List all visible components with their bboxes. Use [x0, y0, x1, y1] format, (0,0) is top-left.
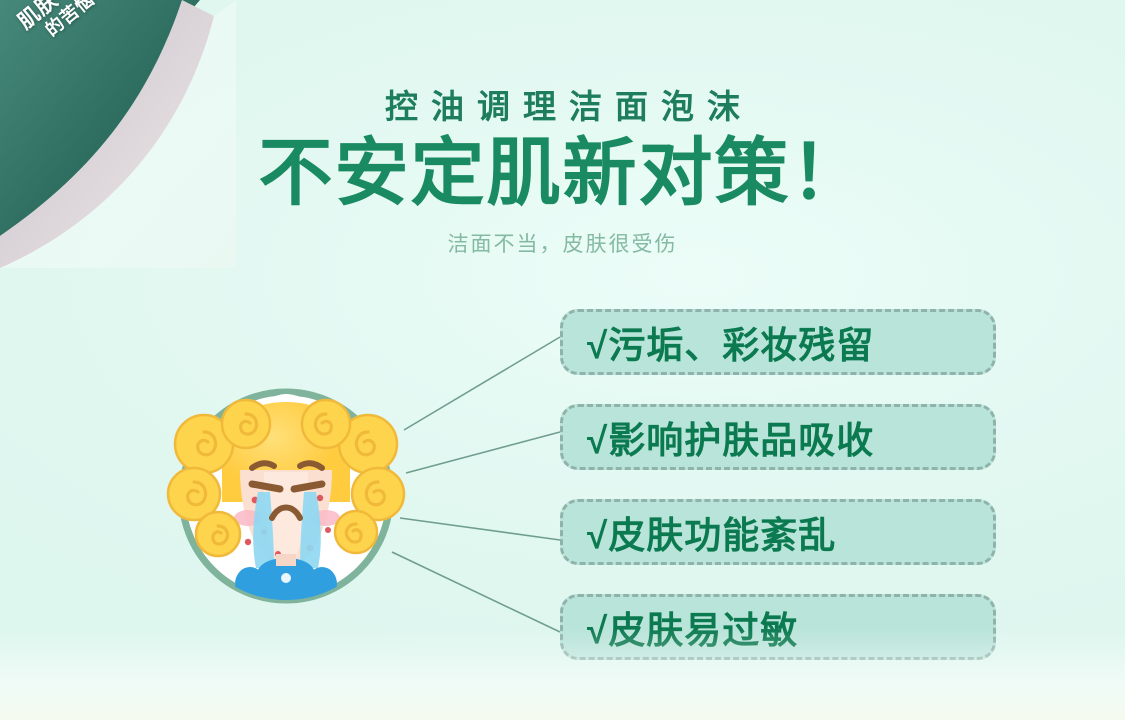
connector-line-4 [392, 552, 560, 632]
poster-canvas: 肌肤不安定 的苦恼 控油调理洁面泡沫 不安定肌新对策！ 洁面不当，皮肤很受伤 [0, 0, 1125, 720]
list-item-label: √污垢、彩妆残留 [587, 315, 874, 369]
list-item-label: √皮肤易过敏 [587, 600, 798, 654]
kicker-text: 控油调理洁面泡沫 [0, 80, 1125, 128]
page-title: 不安定肌新对策！ [0, 136, 1125, 214]
crying-nurse-girl-illustration [160, 372, 412, 624]
list-item[interactable]: √皮肤易过敏 [560, 594, 996, 660]
connector-line-3 [400, 518, 560, 540]
connector-line-2 [406, 432, 560, 473]
list-item[interactable]: √影响护肤品吸收 [560, 404, 996, 470]
list-item-label: √皮肤功能紊乱 [587, 505, 836, 559]
list-item[interactable]: √污垢、彩妆残留 [560, 309, 996, 375]
list-item[interactable]: √皮肤功能紊乱 [560, 499, 996, 565]
header-block: 控油调理洁面泡沫 不安定肌新对策！ 洁面不当，皮肤很受伤 [0, 0, 1125, 258]
subtitle-text: 洁面不当，皮肤很受伤 [0, 228, 1125, 258]
connector-line-1 [404, 337, 560, 430]
issue-list: √污垢、彩妆残留 √影响护肤品吸收 √皮肤功能紊乱 √皮肤易过敏 [560, 309, 996, 689]
list-item-label: √影响护肤品吸收 [587, 410, 874, 464]
